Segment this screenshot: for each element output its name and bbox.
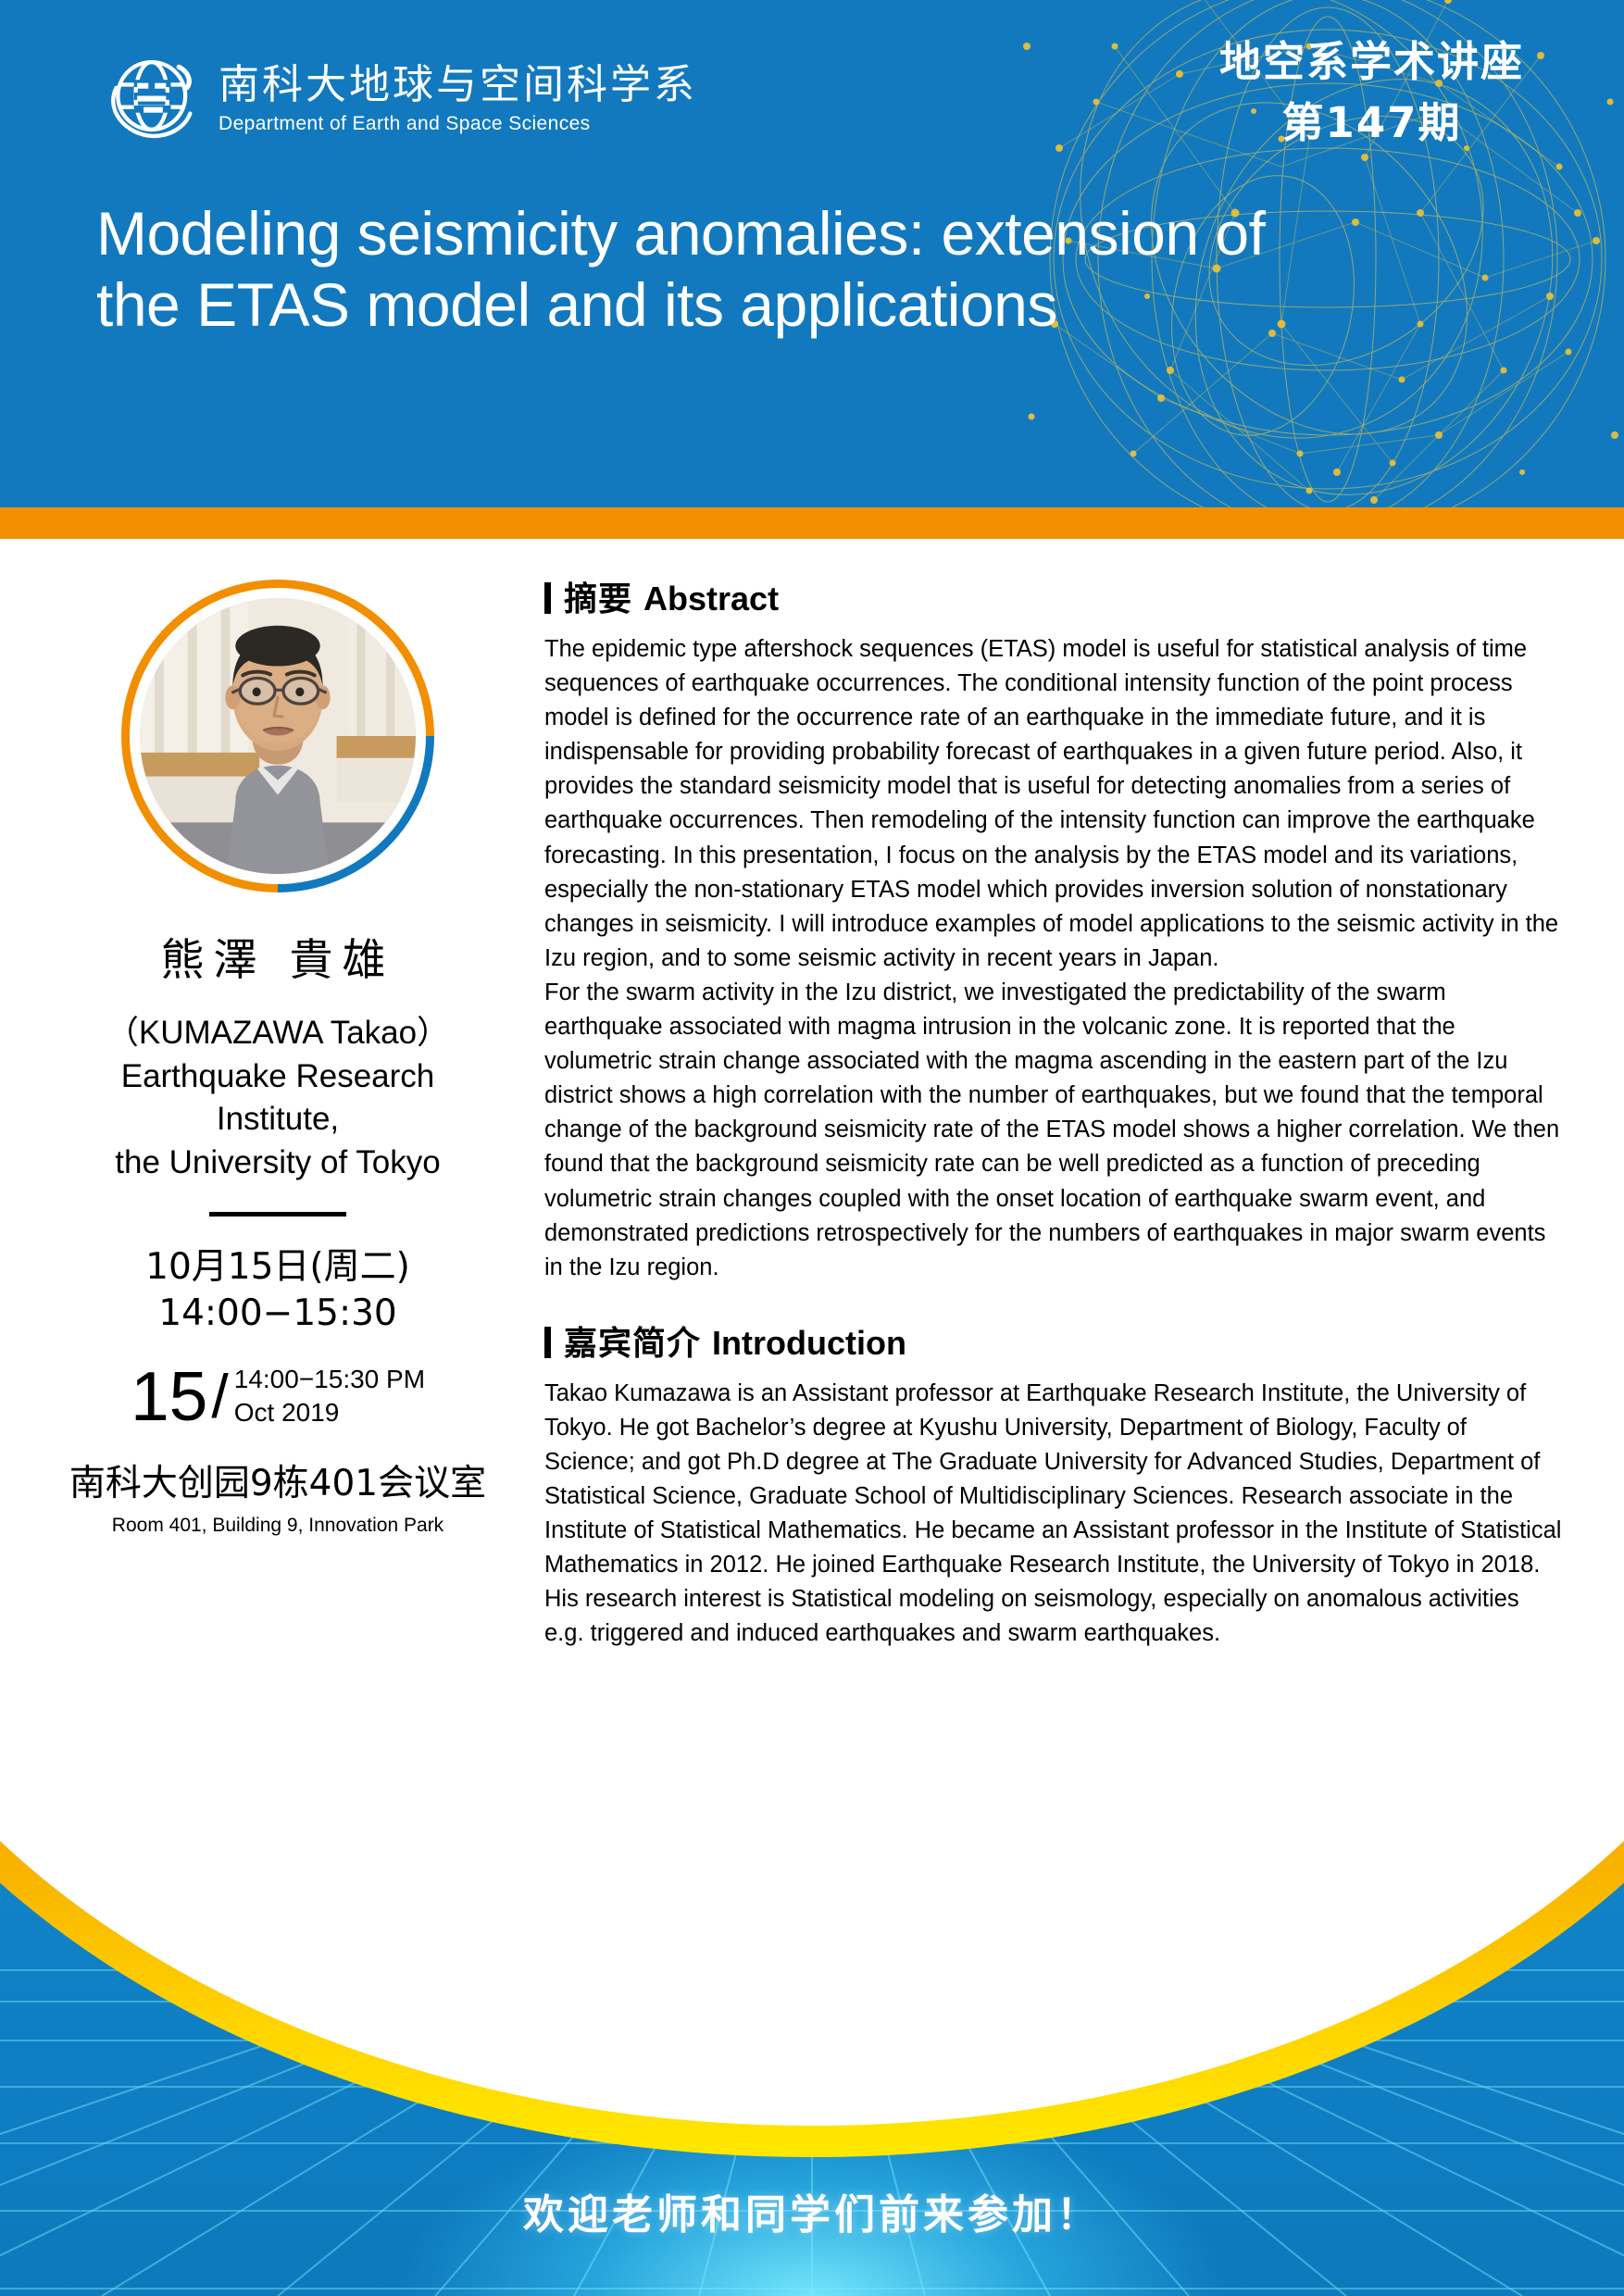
- heading-bar-icon: [544, 1327, 551, 1358]
- speaker-name-romaji: （KUMAZAWA Takao）: [28, 1012, 528, 1055]
- badge-series-name: 地空系学术讲座: [1219, 35, 1524, 89]
- event-date-badge: 15 / 14:00−15:30 PM Oct 2019: [28, 1363, 528, 1430]
- venue-cn: 南科大创园9栋401会议室: [28, 1454, 528, 1506]
- globe-ess-logo-icon: [102, 51, 198, 147]
- speaker-photo: [140, 598, 416, 874]
- section-divider: [209, 1212, 346, 1217]
- introduction-heading-cn: 嘉宾简介: [564, 1316, 701, 1365]
- avatar: [121, 580, 434, 892]
- introduction-heading-en: Introduction: [712, 1324, 906, 1363]
- page-title: Modeling seismicity anomalies: extension…: [96, 198, 1300, 341]
- event-day-number: 15: [131, 1364, 207, 1429]
- abstract-paragraph-1: The epidemic type aftershock sequences (…: [544, 632, 1563, 976]
- abstract-heading-cn: 摘要: [564, 572, 632, 620]
- speaker-panel: 熊澤 貴雄 （KUMAZAWA Takao） Earthquake Resear…: [28, 580, 528, 1537]
- content-panel: 摘要 Abstract The epidemic type aftershock…: [544, 572, 1563, 1652]
- affiliation-line-2: Institute,: [28, 1098, 528, 1142]
- event-time-cn: 14:00−15:30: [28, 1291, 528, 1337]
- introduction-heading: 嘉宾简介 Introduction: [544, 1316, 1563, 1365]
- venue-en: Room 401, Building 9, Innovation Park: [28, 1515, 528, 1537]
- abstract-paragraph-2: For the swarm activity in the Izu distri…: [544, 976, 1563, 1285]
- badge-issue-number: 第147期: [1219, 96, 1524, 150]
- logo-text-en: Department of Earth and Space Sciences: [219, 114, 697, 133]
- event-date-detail: 14:00−15:30 PM Oct 2019: [234, 1363, 425, 1430]
- event-date-time-cn: 10月15日(周二) 14:00−15:30: [28, 1244, 528, 1337]
- introduction-body: Takao Kumazawa is an Assistant professor…: [544, 1377, 1563, 1652]
- section-spacer: [544, 1285, 1563, 1316]
- affiliation-line-1: Earthquake Research: [28, 1055, 528, 1099]
- event-time-en: 14:00−15:30 PM: [234, 1363, 425, 1396]
- abstract-body: The epidemic type aftershock sequences (…: [544, 632, 1563, 1285]
- welcome-message: 欢迎老师和同学们前来参加！: [0, 2181, 1624, 2240]
- header-orange-rule: [0, 507, 1624, 539]
- date-slash-separator: /: [211, 1366, 228, 1427]
- affiliation-line-3: the University of Tokyo: [28, 1142, 528, 1185]
- department-logo: 南科大地球与空间科学系 Department of Earth and Spac…: [102, 51, 697, 147]
- speaker-affiliation: （KUMAZAWA Takao） Earthquake Research Ins…: [28, 1012, 528, 1184]
- speaker-name-cn: 熊澤 貴雄: [28, 924, 528, 988]
- lecture-series-badge: 地空系学术讲座 第147期: [1219, 35, 1524, 149]
- poster-header: 南科大地球与空间科学系 Department of Earth and Spac…: [0, 0, 1624, 507]
- event-month-year: Oct 2019: [234, 1396, 425, 1429]
- logo-text-cn: 南科大地球与空间科学系: [219, 65, 697, 106]
- heading-bar-icon: [544, 582, 551, 614]
- introduction-paragraph-1: Takao Kumazawa is an Assistant professor…: [544, 1377, 1563, 1652]
- abstract-heading-en: Abstract: [643, 580, 779, 618]
- event-date-cn: 10月15日(周二): [28, 1244, 528, 1291]
- abstract-heading: 摘要 Abstract: [544, 572, 1563, 620]
